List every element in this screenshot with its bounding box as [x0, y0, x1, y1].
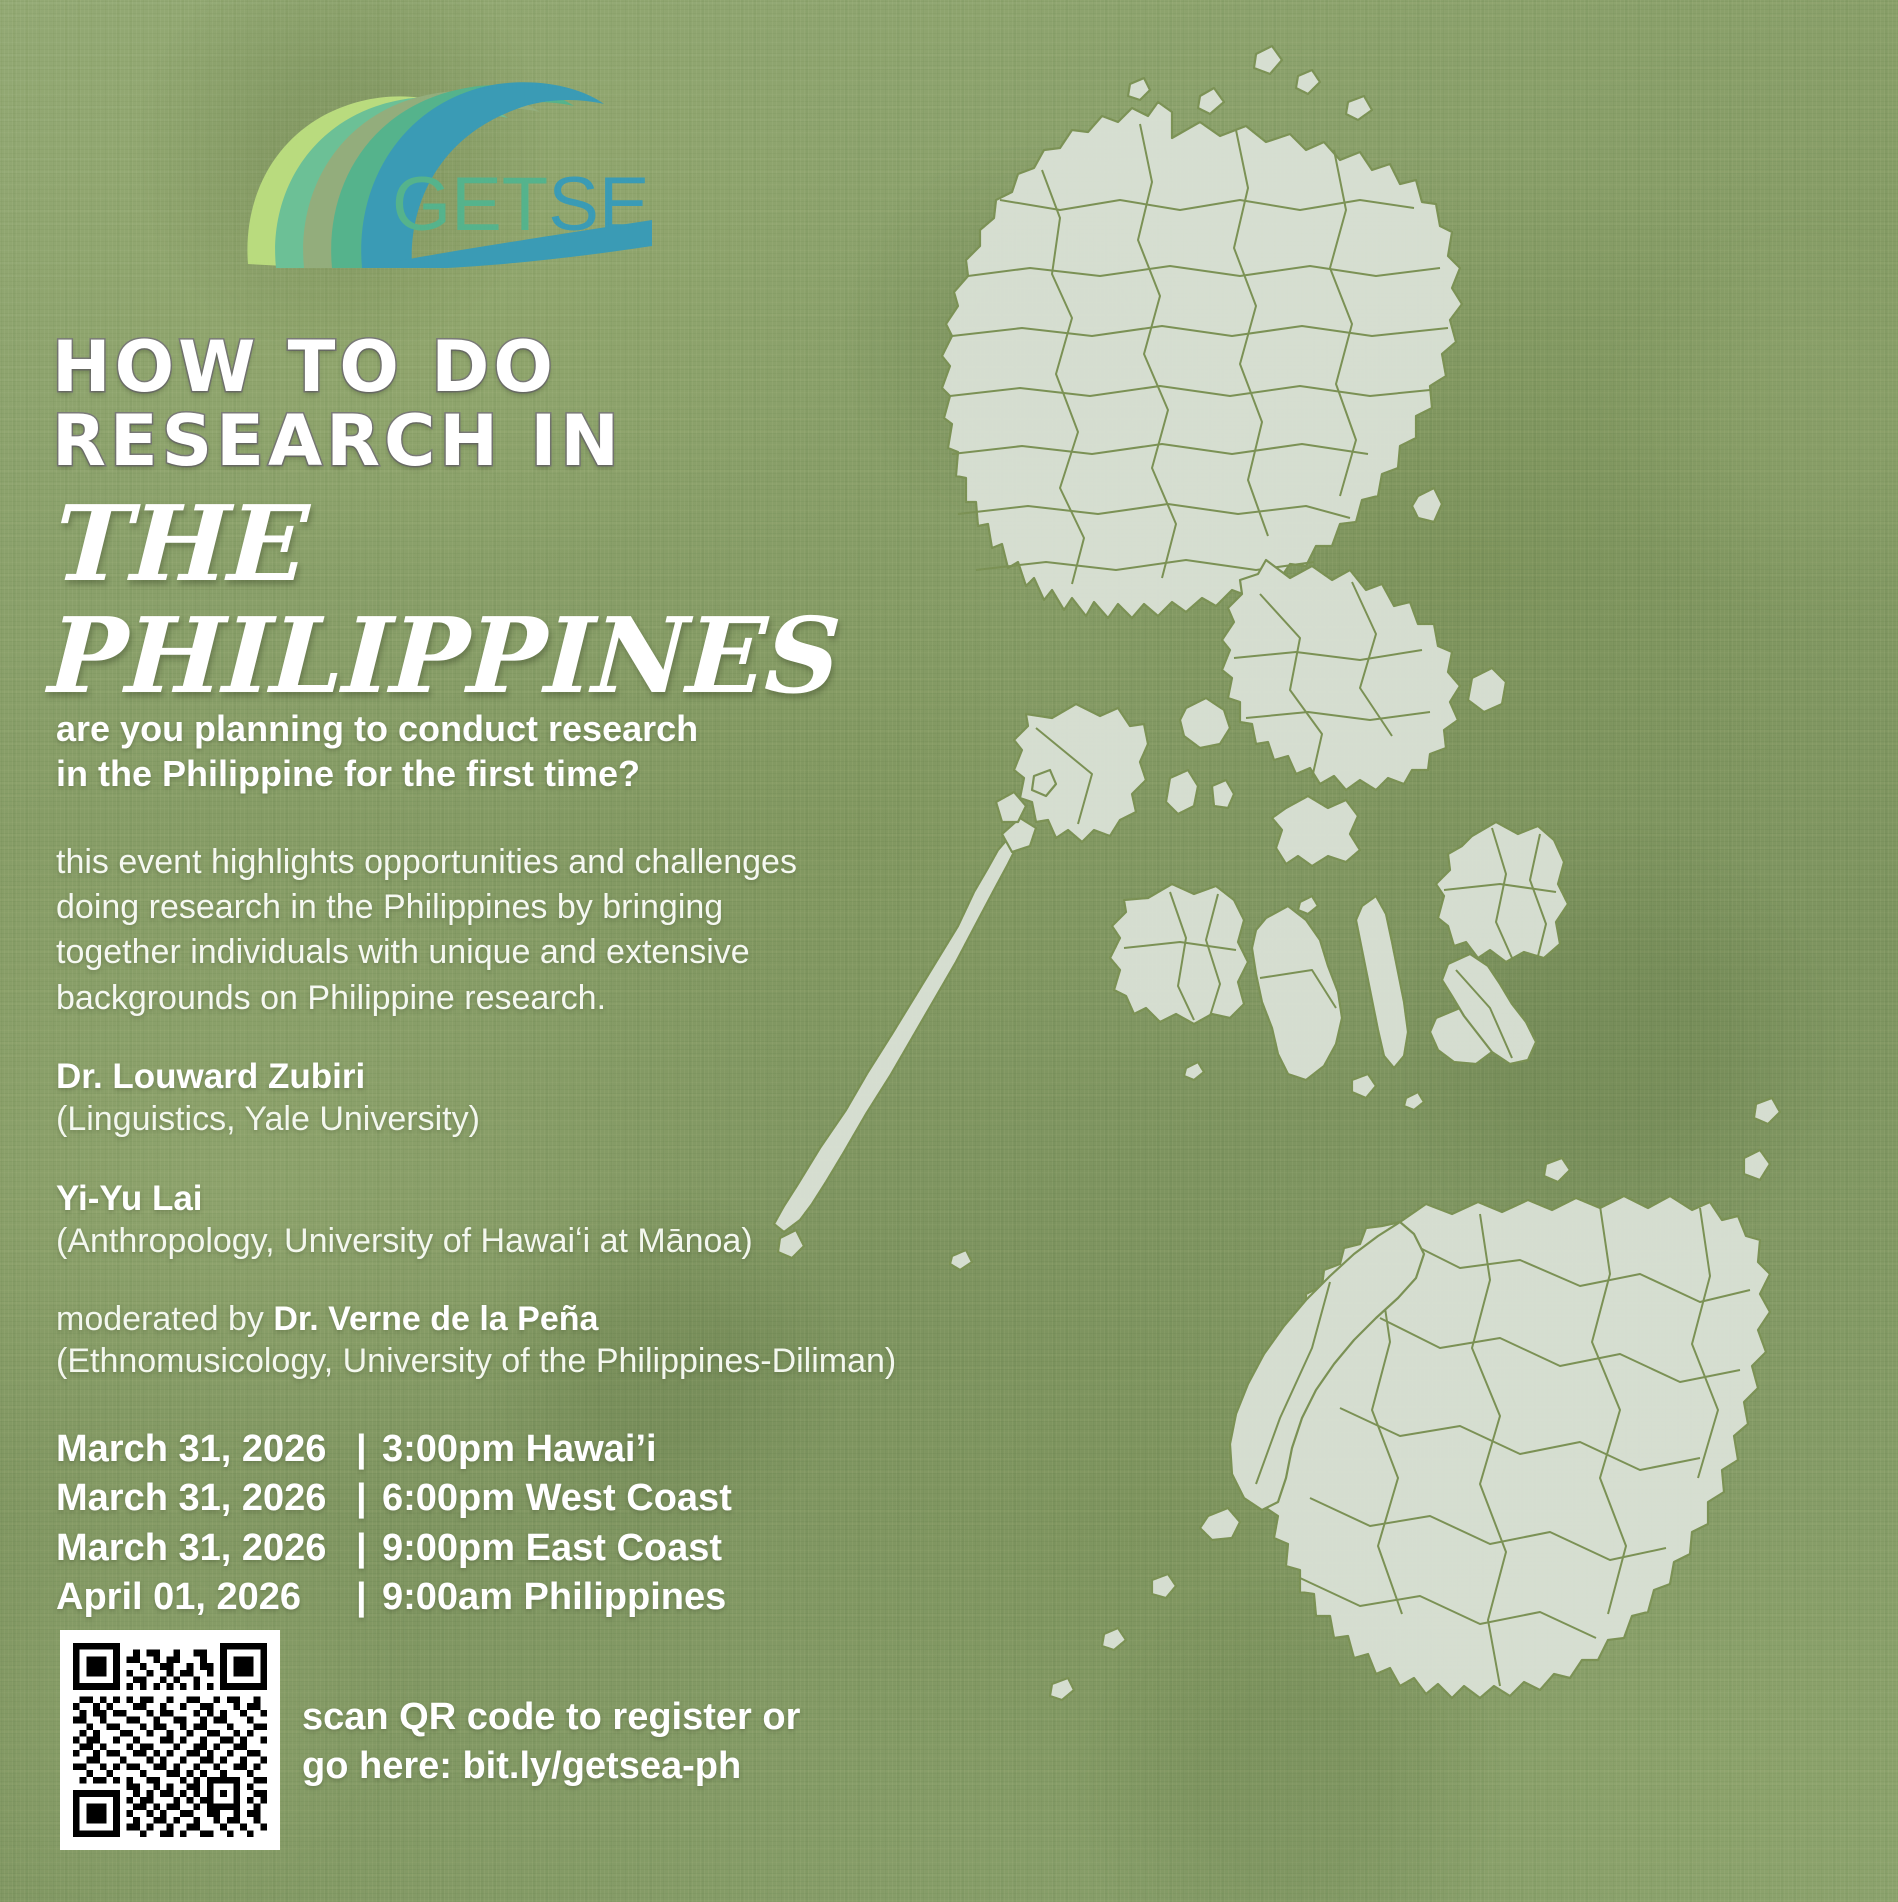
schedule-date: March 31, 2026	[56, 1524, 356, 1573]
schedule-separator: |	[356, 1474, 382, 1523]
registration-info: scan QR code to register or go here: bit…	[302, 1693, 1202, 1790]
schedule-time: 6:00pm West Coast	[382, 1474, 732, 1523]
schedule-row: March 31, 2026 | 9:00pm East Coast	[56, 1524, 956, 1573]
page-title: HOW TO DO RESEARCH IN THE PHILIPPINES	[52, 330, 952, 713]
poster-canvas: GETSEA HOW TO DO RESEARCH IN THE PHILIPP…	[0, 0, 1898, 1902]
subheading-line-1: are you planning to conduct research	[56, 706, 936, 751]
qr-code[interactable]	[60, 1630, 280, 1850]
schedule-time: 9:00pm East Coast	[382, 1524, 722, 1573]
event-description: this event highlights opportunities and …	[56, 840, 936, 1021]
subheading: are you planning to conduct research in …	[56, 706, 936, 797]
schedule-separator: |	[356, 1425, 382, 1474]
moderator-affiliation: (Ethnomusicology, University of the Phil…	[56, 1340, 1006, 1382]
schedule-separator: |	[356, 1524, 382, 1573]
speaker-affiliation: (Anthropology, University of Hawaiʻi at …	[56, 1220, 1006, 1262]
schedule-date: March 31, 2026	[56, 1425, 356, 1474]
schedule-date: April 01, 2026	[56, 1573, 356, 1622]
description-line-3: together individuals with unique and ext…	[56, 930, 936, 975]
moderator-line: moderated by Dr. Verne de la Peña	[56, 1298, 1006, 1340]
schedule-list: March 31, 2026 | 3:00pm Hawai’i March 31…	[56, 1425, 956, 1623]
register-line-1: scan QR code to register or	[302, 1693, 1202, 1742]
description-line-1: this event highlights opportunities and …	[56, 840, 936, 885]
speaker-entry: Dr. Louward Zubiri (Linguistics, Yale Un…	[56, 1055, 1006, 1141]
subheading-line-2: in the Philippine for the first time?	[56, 751, 936, 796]
speaker-name: Yi-Yu Lai	[56, 1177, 1006, 1220]
description-line-4: backgrounds on Philippine research.	[56, 976, 936, 1021]
speaker-affiliation: (Linguistics, Yale University)	[56, 1098, 1006, 1140]
schedule-time: 9:00am Philippines	[382, 1573, 726, 1622]
speaker-name: Dr. Louward Zubiri	[56, 1055, 1006, 1098]
schedule-date: March 31, 2026	[56, 1474, 356, 1523]
speaker-entry: Yi-Yu Lai (Anthropology, University of H…	[56, 1177, 1006, 1263]
moderator-entry: moderated by Dr. Verne de la Peña (Ethno…	[56, 1298, 1006, 1382]
moderator-name: Dr. Verne de la Peña	[273, 1300, 598, 1338]
headline-line-1: HOW TO DO RESEARCH IN	[52, 330, 952, 478]
speakers-list: Dr. Louward Zubiri (Linguistics, Yale Un…	[56, 1055, 1006, 1418]
schedule-row: April 01, 2026 | 9:00am Philippines	[56, 1573, 956, 1622]
headline-line-2: THE PHILIPPINES	[46, 488, 958, 713]
register-link[interactable]: go here: bit.ly/getsea-ph	[302, 1742, 1202, 1791]
schedule-row: March 31, 2026 | 6:00pm West Coast	[56, 1474, 956, 1523]
schedule-time: 3:00pm Hawai’i	[382, 1425, 657, 1474]
getsea-logo: GETSEA	[232, 78, 652, 268]
logo-wordmark: GETSEA	[392, 162, 652, 247]
schedule-row: March 31, 2026 | 3:00pm Hawai’i	[56, 1425, 956, 1474]
description-line-2: doing research in the Philippines by bri…	[56, 885, 936, 930]
schedule-separator: |	[356, 1573, 382, 1622]
moderator-prefix: moderated by	[56, 1300, 273, 1338]
